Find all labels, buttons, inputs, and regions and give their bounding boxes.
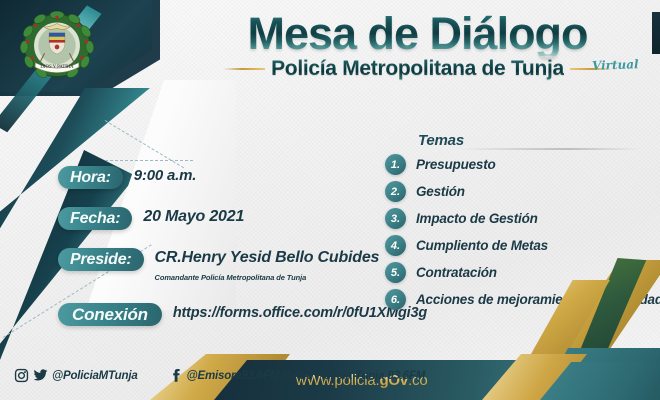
info-row-fecha: Fecha: 20 Mayo 2021 — [58, 207, 388, 230]
event-info-list: Hora: 9:00 a.m. Fecha: 20 Mayo 2021 Pres… — [58, 166, 388, 344]
topics-heading-rule — [460, 148, 640, 150]
topic-label: Cumpliento de Metas — [416, 238, 548, 253]
topic-label: Presupuesto — [416, 157, 496, 172]
social-links: @PoliciaMTunja @Emisora93.6FM Radio Poli… — [14, 368, 429, 383]
value-wrap-preside: CR.Henry Yesid Bello Cubides Comandante … — [155, 248, 380, 285]
social-handle-main[interactable]: @PoliciaMTunja — [52, 370, 138, 382]
info-row-hora: Hora: 9:00 a.m. — [58, 166, 388, 189]
decor-dashed-line — [105, 160, 193, 161]
page-title: Mesa de Diálogo — [247, 12, 587, 56]
facebook-icon[interactable] — [168, 368, 183, 383]
subtitle-row: Policía Metropolitana de Tunja — [190, 57, 645, 81]
poster-canvas: DIOS Y PATRIA Mesa de Diálogo Virtual Po… — [0, 0, 660, 400]
topic-label: Gestión — [416, 184, 465, 199]
topic-item: 4. Cumpliento de Metas — [388, 235, 660, 256]
topic-number: 1. — [385, 154, 406, 175]
info-row-conexion: Conexión https://forms.office.com/r/0fU1… — [58, 303, 388, 326]
topic-number: 5. — [385, 262, 406, 283]
svg-text:DIOS Y PATRIA: DIOS Y PATRIA — [40, 65, 74, 70]
topic-item: 1. Presupuesto — [388, 154, 660, 175]
topic-number: 6. — [385, 289, 406, 310]
value-fecha: 20 Mayo 2021 — [143, 208, 244, 225]
label-preside: Preside: — [58, 248, 144, 271]
page-subtitle: Policía Metropolitana de Tunja — [271, 57, 564, 81]
topic-label: Impacto de Gestión — [416, 211, 538, 226]
topic-number: 2. — [385, 181, 406, 202]
topic-number: 4. — [385, 235, 406, 256]
value-preside-subtitle: Comandante Policía Metropolitana de Tunj… — [155, 273, 307, 282]
topics-heading: Temas — [418, 132, 660, 149]
header-block: Mesa de Diálogo Virtual Policía Metropol… — [190, 12, 645, 81]
value-wrap-hora: 9:00 a.m. — [134, 166, 196, 185]
topic-item: 2. Gestión — [388, 181, 660, 202]
topic-label: Contratación — [416, 265, 497, 280]
topic-item: 3. Impacto de Gestión — [388, 208, 660, 229]
value-wrap-fecha: 20 Mayo 2021 — [143, 207, 244, 226]
virtual-tag: Virtual — [592, 57, 639, 73]
info-row-preside: Preside: CR.Henry Yesid Bello Cubides Co… — [58, 248, 388, 285]
topic-number: 3. — [385, 208, 406, 229]
police-emblem-icon: DIOS Y PATRIA — [18, 8, 96, 86]
gold-rule-left — [223, 68, 265, 70]
value-preside: CR.Henry Yesid Bello Cubides — [155, 249, 380, 266]
label-conexion: Conexión — [58, 303, 162, 326]
twitter-icon[interactable] — [33, 368, 48, 383]
value-hora: 9:00 a.m. — [134, 167, 196, 184]
social-handle-radio[interactable]: @Emisora93.6FM Radio Policía Tunja 93.6F… — [187, 370, 426, 382]
instagram-icon[interactable] — [14, 368, 29, 383]
label-hora: Hora: — [58, 166, 123, 189]
label-fecha: Fecha: — [58, 207, 132, 230]
decor-right-bar — [652, 12, 660, 54]
